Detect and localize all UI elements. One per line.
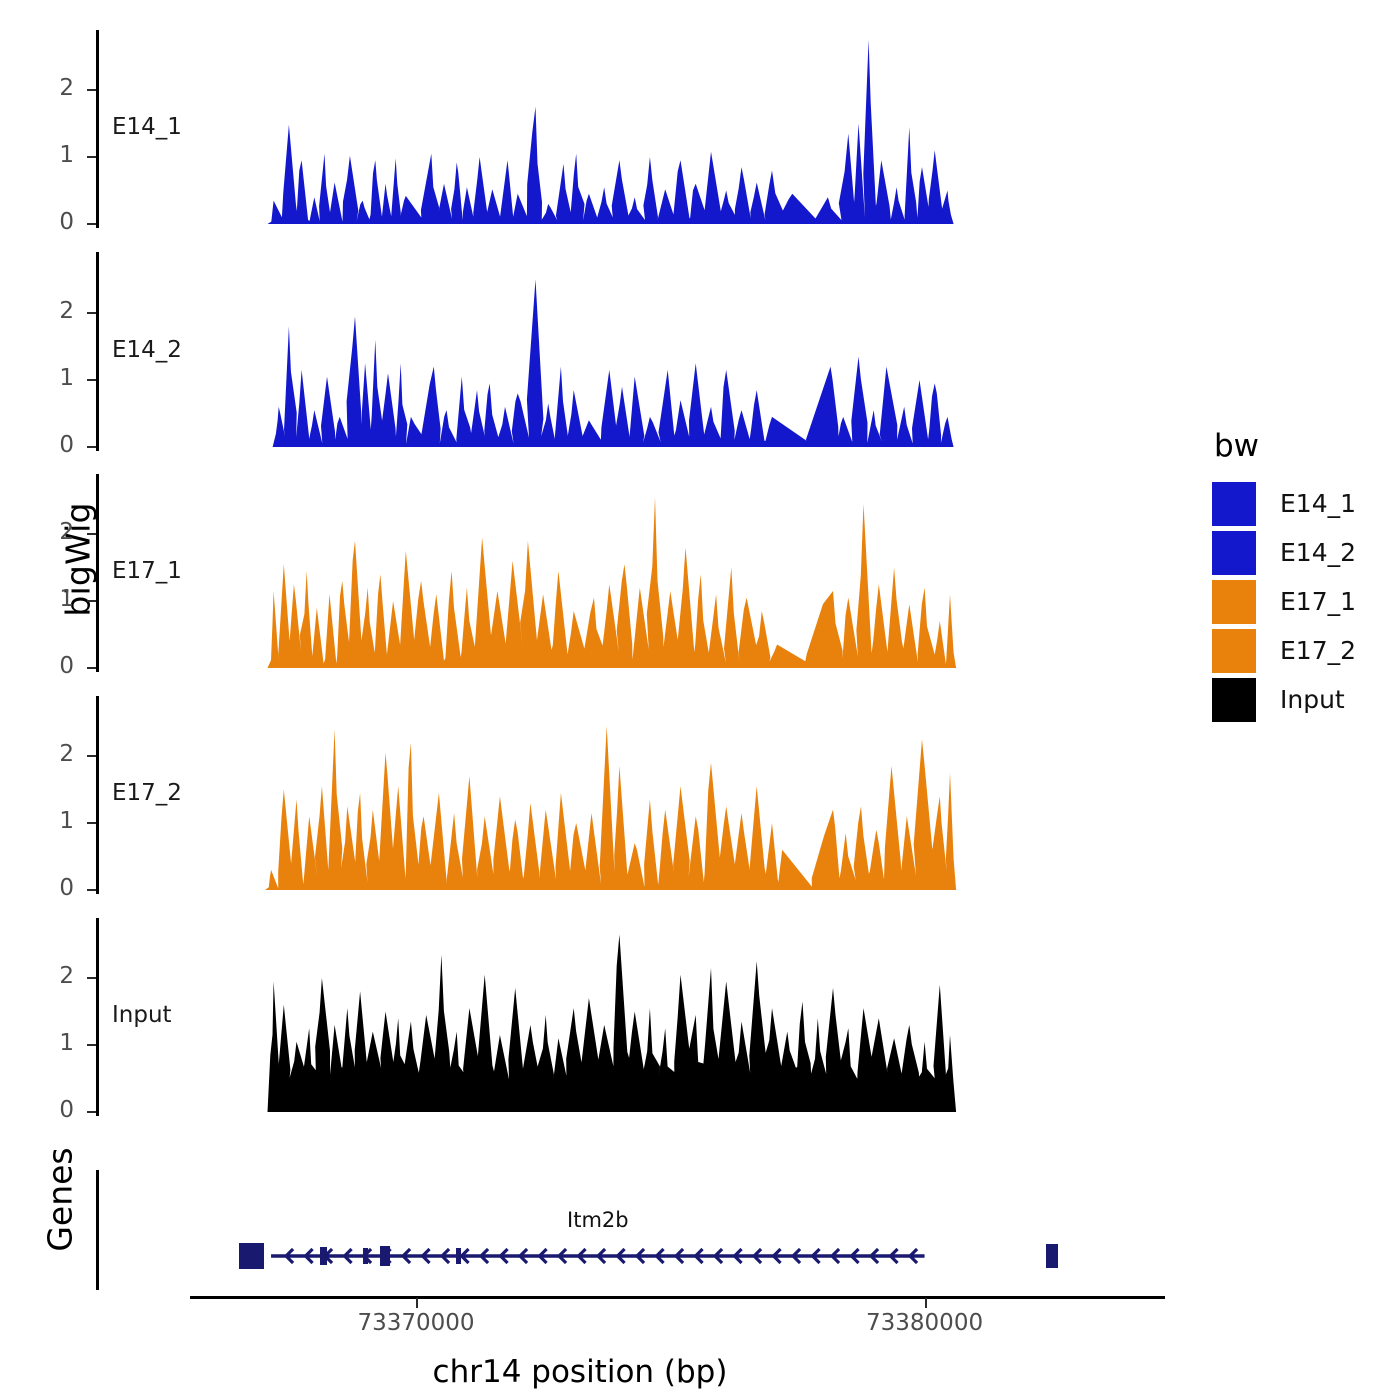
y-tick-mark [87, 223, 96, 225]
y-tick-label: 2 [14, 77, 74, 100]
x-tick-label: 73370000 [306, 1310, 526, 1336]
y-tick-label: 0 [14, 211, 74, 234]
panel-axis-e17_2 [96, 696, 99, 894]
panel-label-e14_1: E14_1 [112, 114, 182, 140]
y-tick-mark [87, 156, 96, 158]
y-tick-label: 2 [14, 521, 74, 544]
panel-label-e17_2: E17_2 [112, 780, 182, 806]
y-tick-label: 2 [14, 965, 74, 988]
y-tick-mark [87, 379, 96, 381]
legend-item-input[interactable]: Input [1212, 675, 1356, 724]
track-panels: 012E14_1012E14_2012E17_1012E17_2012Input [0, 0, 1180, 1160]
legend-item-e17_1[interactable]: E17_1 [1212, 577, 1356, 626]
y-tick-mark [87, 822, 96, 824]
y-tick-label: 2 [14, 300, 74, 323]
y-tick-label: 1 [14, 810, 74, 833]
legend-color-swatch [1212, 678, 1256, 722]
y-tick-mark [87, 600, 96, 602]
panel-axis-input [96, 918, 99, 1116]
legend-item-label: E14_2 [1280, 538, 1356, 567]
y-tick-mark [87, 533, 96, 535]
x-axis-line [190, 1296, 1165, 1299]
legend-item-label: Input [1280, 685, 1345, 714]
panel-axis-e14_2 [96, 252, 99, 451]
y-tick-mark [87, 977, 96, 979]
legend-color-swatch [1212, 482, 1256, 526]
x-axis: 7337000073380000chr14 position (bp) [0, 1296, 1180, 1396]
y-tick-label: 0 [14, 434, 74, 457]
y-tick-mark [87, 667, 96, 669]
gene-model[interactable] [0, 1160, 1180, 1300]
y-tick-mark [87, 312, 96, 314]
panel-label-input: Input [112, 1002, 172, 1028]
y-tick-label: 1 [14, 144, 74, 167]
legend-item-label: E17_2 [1280, 636, 1356, 665]
legend-items: E14_1E14_2E17_1E17_2Input [1212, 479, 1356, 724]
legend: bw E14_1E14_2E17_1E17_2Input [1212, 428, 1356, 724]
legend-item-e14_2[interactable]: E14_2 [1212, 528, 1356, 577]
y-tick-label: 0 [14, 1099, 74, 1122]
legend-color-swatch [1212, 580, 1256, 624]
legend-color-swatch [1212, 629, 1256, 673]
y-tick-mark [87, 1111, 96, 1113]
legend-color-swatch [1212, 531, 1256, 575]
x-tick-label: 73380000 [815, 1310, 1035, 1336]
panel-axis-e14_1 [96, 30, 99, 228]
y-tick-mark [87, 755, 96, 757]
y-tick-label: 0 [14, 655, 74, 678]
panel-axis-e17_1 [96, 474, 99, 672]
y-tick-label: 2 [14, 743, 74, 766]
legend-item-e17_2[interactable]: E17_2 [1212, 626, 1356, 675]
x-tick-mark [416, 1298, 418, 1308]
legend-title: bw [1214, 428, 1356, 464]
y-tick-mark [87, 446, 96, 448]
y-tick-mark [87, 889, 96, 891]
x-axis-label: chr14 position (bp) [0, 1354, 1160, 1390]
legend-item-e14_1[interactable]: E14_1 [1212, 479, 1356, 528]
x-tick-mark [925, 1298, 927, 1308]
y-tick-label: 1 [14, 588, 74, 611]
y-tick-label: 1 [14, 1032, 74, 1055]
panel-label-e14_2: E14_2 [112, 337, 182, 363]
y-tick-mark [87, 89, 96, 91]
legend-item-label: E17_1 [1280, 587, 1356, 616]
y-tick-mark [87, 1044, 96, 1046]
legend-item-label: E14_1 [1280, 489, 1356, 518]
panel-label-e17_1: E17_1 [112, 558, 182, 584]
y-tick-label: 0 [14, 877, 74, 900]
genes-panel: Itm2b [0, 1160, 1180, 1300]
y-tick-label: 1 [14, 367, 74, 390]
